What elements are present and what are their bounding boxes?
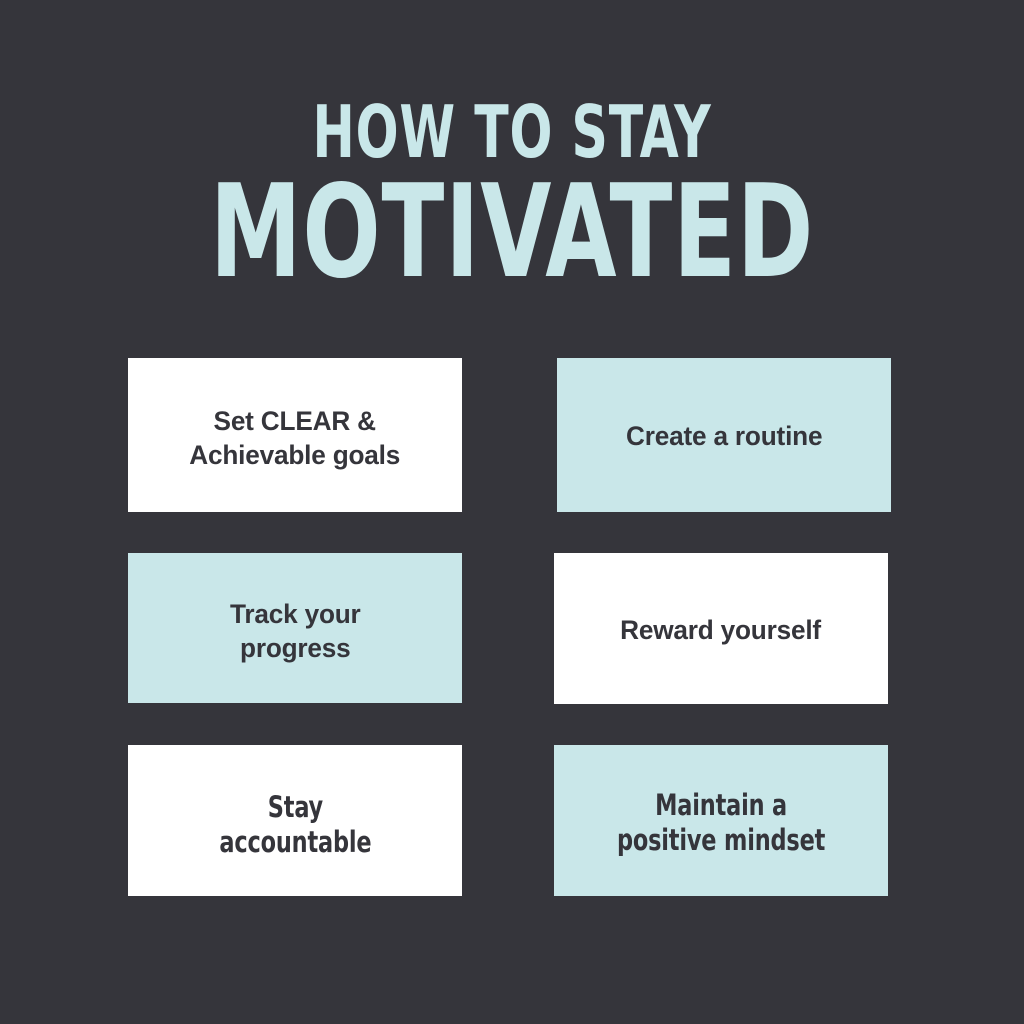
card-track-your-progress: Track your progress: [128, 553, 462, 703]
poster-title: HOW TO STAY MOTIVATED: [0, 96, 1024, 294]
card-label: Maintain a positive mindset: [617, 788, 825, 858]
card-label: Track your progress: [230, 597, 361, 665]
card-maintain-a-positive-mindset: Maintain a positive mindset: [554, 745, 888, 896]
motivation-infographic-poster: HOW TO STAY MOTIVATED Set CLEAR & Achiev…: [0, 0, 1024, 1024]
card-stay-accountable: Stay accountable: [128, 745, 462, 896]
title-line-two: MOTIVATED: [102, 172, 921, 294]
card-create-a-routine: Create a routine: [557, 358, 891, 512]
tips-card-grid: Set CLEAR & Achievable goals Create a ro…: [128, 358, 888, 896]
card-set-clear-achievable-goals: Set CLEAR & Achievable goals: [128, 358, 462, 512]
card-label: Set CLEAR & Achievable goals: [190, 404, 401, 472]
card-label: Stay accountable: [219, 790, 371, 860]
card-label: Reward yourself: [621, 613, 822, 647]
card-reward-yourself: Reward yourself: [554, 553, 888, 704]
card-label: Create a routine: [626, 419, 822, 453]
